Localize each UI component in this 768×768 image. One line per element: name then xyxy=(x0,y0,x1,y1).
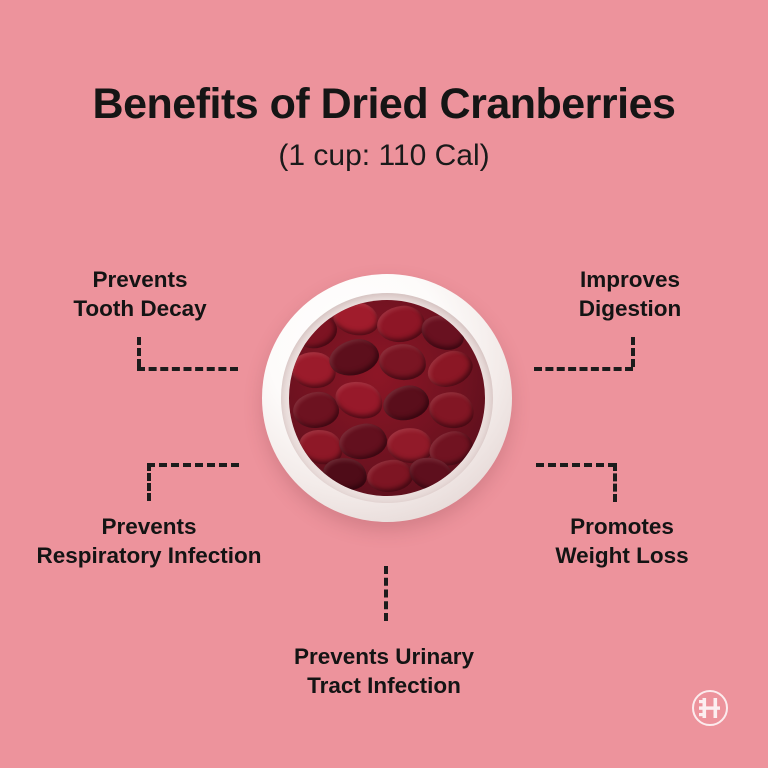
benefit-line-2: Weight Loss xyxy=(476,542,768,571)
connector-weight-loss-horizontal xyxy=(536,463,616,467)
benefit-line-2: Respiratory Infection xyxy=(0,542,298,571)
benefit-line-1: Prevents xyxy=(0,266,280,295)
benefit-line-1: Improves xyxy=(492,266,768,295)
cranberry-bowl-image xyxy=(262,274,512,522)
benefit-label-weight-loss: Promotes Weight Loss xyxy=(476,513,768,571)
connector-digestion-horizontal xyxy=(534,367,633,371)
benefit-label-digestion: Improves Digestion xyxy=(492,266,768,324)
connector-respiratory-horizontal xyxy=(147,463,239,467)
infographic-canvas: Benefits of Dried Cranberries (1 cup: 11… xyxy=(0,0,768,768)
benefit-line-1: Promotes xyxy=(476,513,768,542)
bowl-rim xyxy=(281,293,494,504)
connector-weight-loss-vertical xyxy=(613,463,617,502)
benefit-line-2: Tract Infection xyxy=(234,672,534,701)
benefit-line-1: Prevents Urinary xyxy=(234,643,534,672)
page-subtitle: (1 cup: 110 Cal) xyxy=(0,141,768,171)
benefit-label-urinary-tract-infection: Prevents Urinary Tract Infection xyxy=(234,643,534,701)
benefit-line-1: Prevents xyxy=(0,513,298,542)
logo-monogram-icon xyxy=(692,690,728,726)
benefit-line-2: Tooth Decay xyxy=(0,295,280,324)
benefit-line-2: Digestion xyxy=(492,295,768,324)
bowl-shape xyxy=(262,274,512,522)
connector-urinary-tract-vertical xyxy=(384,566,388,621)
header: Benefits of Dried Cranberries (1 cup: 11… xyxy=(0,82,768,171)
connector-tooth-decay-horizontal xyxy=(137,367,238,371)
brand-logo xyxy=(692,690,728,726)
page-title: Benefits of Dried Cranberries xyxy=(0,82,768,127)
connector-tooth-decay-vertical xyxy=(137,337,141,367)
dried-cranberries-cluster xyxy=(289,300,485,496)
connector-digestion-vertical xyxy=(631,337,635,367)
connector-respiratory-vertical xyxy=(147,463,151,501)
benefit-label-respiratory-infection: Prevents Respiratory Infection xyxy=(0,513,298,571)
benefit-label-tooth-decay: Prevents Tooth Decay xyxy=(0,266,280,324)
